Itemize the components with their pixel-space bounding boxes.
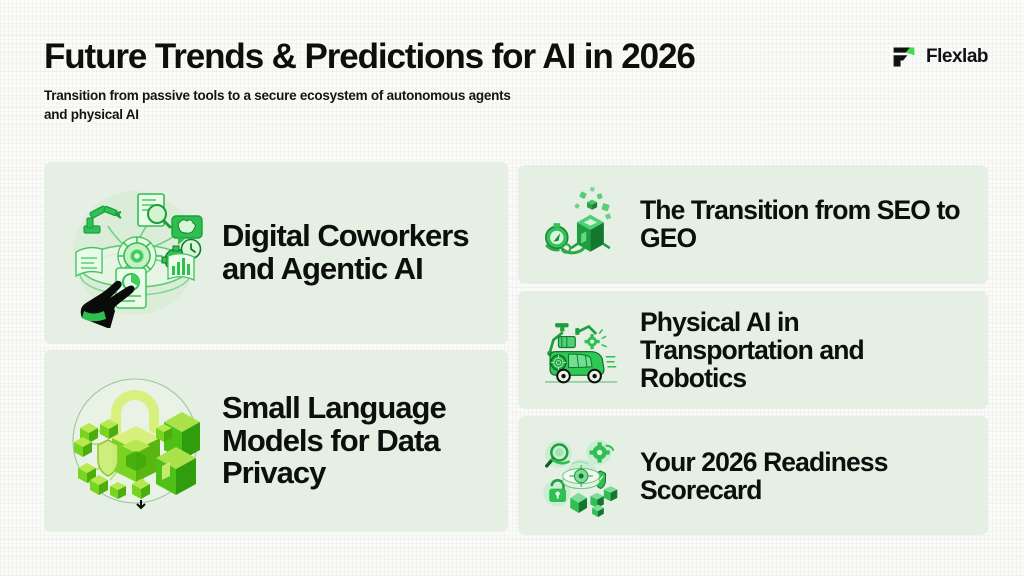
cards-column-left: Digital Coworkers and Agentic AI bbox=[44, 162, 508, 532]
privacy-padlock-network-illustration-icon bbox=[60, 366, 210, 516]
cards-grid: Digital Coworkers and Agentic AI bbox=[44, 162, 988, 532]
slide-canvas: Future Trends & Predictions for AI in 20… bbox=[0, 0, 1024, 576]
agentic-ai-hub-illustration-icon bbox=[60, 178, 210, 328]
autonomous-vehicle-robotics-illustration-icon bbox=[540, 308, 624, 392]
header: Future Trends & Predictions for AI in 20… bbox=[44, 38, 988, 138]
card-readiness-scorecard[interactable]: Your 2026 Readiness Scorecard bbox=[518, 416, 988, 535]
card-physical-ai[interactable]: Physical AI in Transportation and Roboti… bbox=[518, 291, 988, 410]
card-title: The Transition from SEO to GEO bbox=[640, 196, 974, 252]
seo-to-geo-compass-illustration-icon bbox=[540, 182, 624, 266]
cards-column-right: The Transition from SEO to GEO bbox=[518, 165, 988, 535]
page-title: Future Trends & Predictions for AI in 20… bbox=[44, 38, 988, 75]
card-digital-coworkers[interactable]: Digital Coworkers and Agentic AI bbox=[44, 162, 508, 344]
page-subtitle: Transition from passive tools to a secur… bbox=[44, 87, 514, 124]
card-title: Small Language Models for Data Privacy bbox=[222, 392, 494, 491]
card-seo-to-geo[interactable]: The Transition from SEO to GEO bbox=[518, 165, 988, 284]
card-title: Your 2026 Readiness Scorecard bbox=[640, 448, 974, 504]
readiness-scorecard-illustration-icon bbox=[540, 434, 624, 518]
brand-name: Flexlab bbox=[926, 46, 988, 68]
card-small-language-models[interactable]: Small Language Models for Data Privacy bbox=[44, 350, 508, 532]
card-title: Digital Coworkers and Agentic AI bbox=[222, 220, 494, 286]
card-title: Physical AI in Transportation and Roboti… bbox=[640, 308, 974, 392]
brand-logo: Flexlab bbox=[891, 44, 988, 70]
flexlab-arrow-mark-icon bbox=[891, 44, 917, 70]
